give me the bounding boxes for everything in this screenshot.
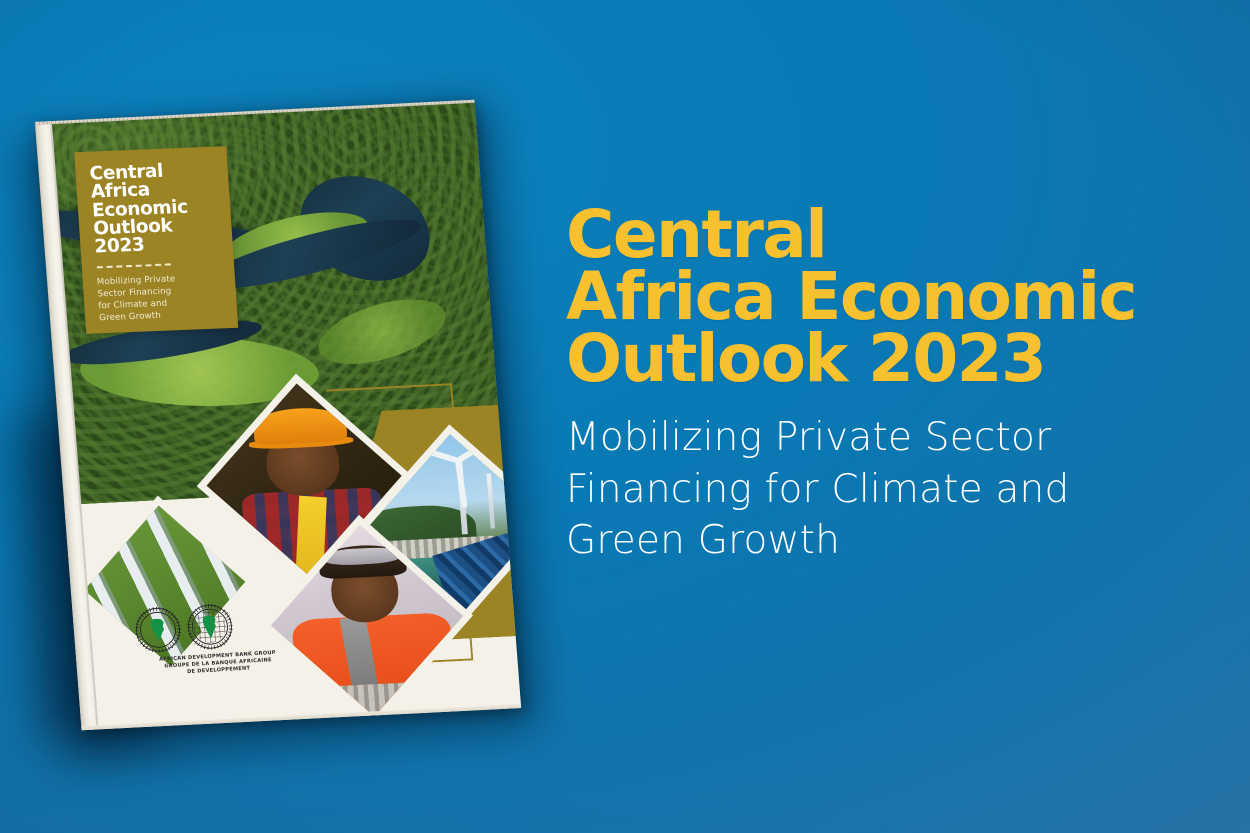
bad-logo-icon xyxy=(186,604,234,650)
publisher-logo-block: AFRICAN DEVELOPMENT BANK GROUP GROUPE DE… xyxy=(134,599,310,679)
orange-hard-hat xyxy=(253,407,348,446)
cover-divider xyxy=(97,263,171,268)
cover-subtitle: Mobilizing Private Sector Financing for … xyxy=(96,271,224,325)
afdb-logo-icon xyxy=(134,607,182,653)
page-title: Central Africa Economic Outlook 2023 xyxy=(566,204,1206,390)
hero-text-panel: Central Africa Economic Outlook 2023 Mob… xyxy=(566,204,1206,567)
book-cover: Central Africa Economic Outlook 2023 Mob… xyxy=(35,100,521,730)
logo-row xyxy=(134,599,307,653)
book-mockup: Central Africa Economic Outlook 2023 Mob… xyxy=(58,110,508,730)
cover-title: Central Africa Economic Outlook 2023 xyxy=(89,161,220,257)
page-subtitle: Mobilizing Private Sector Financing for … xyxy=(566,412,1206,566)
turbine-mast-2 xyxy=(486,474,495,529)
cover-title-block: Central Africa Economic Outlook 2023 Mob… xyxy=(74,146,238,334)
